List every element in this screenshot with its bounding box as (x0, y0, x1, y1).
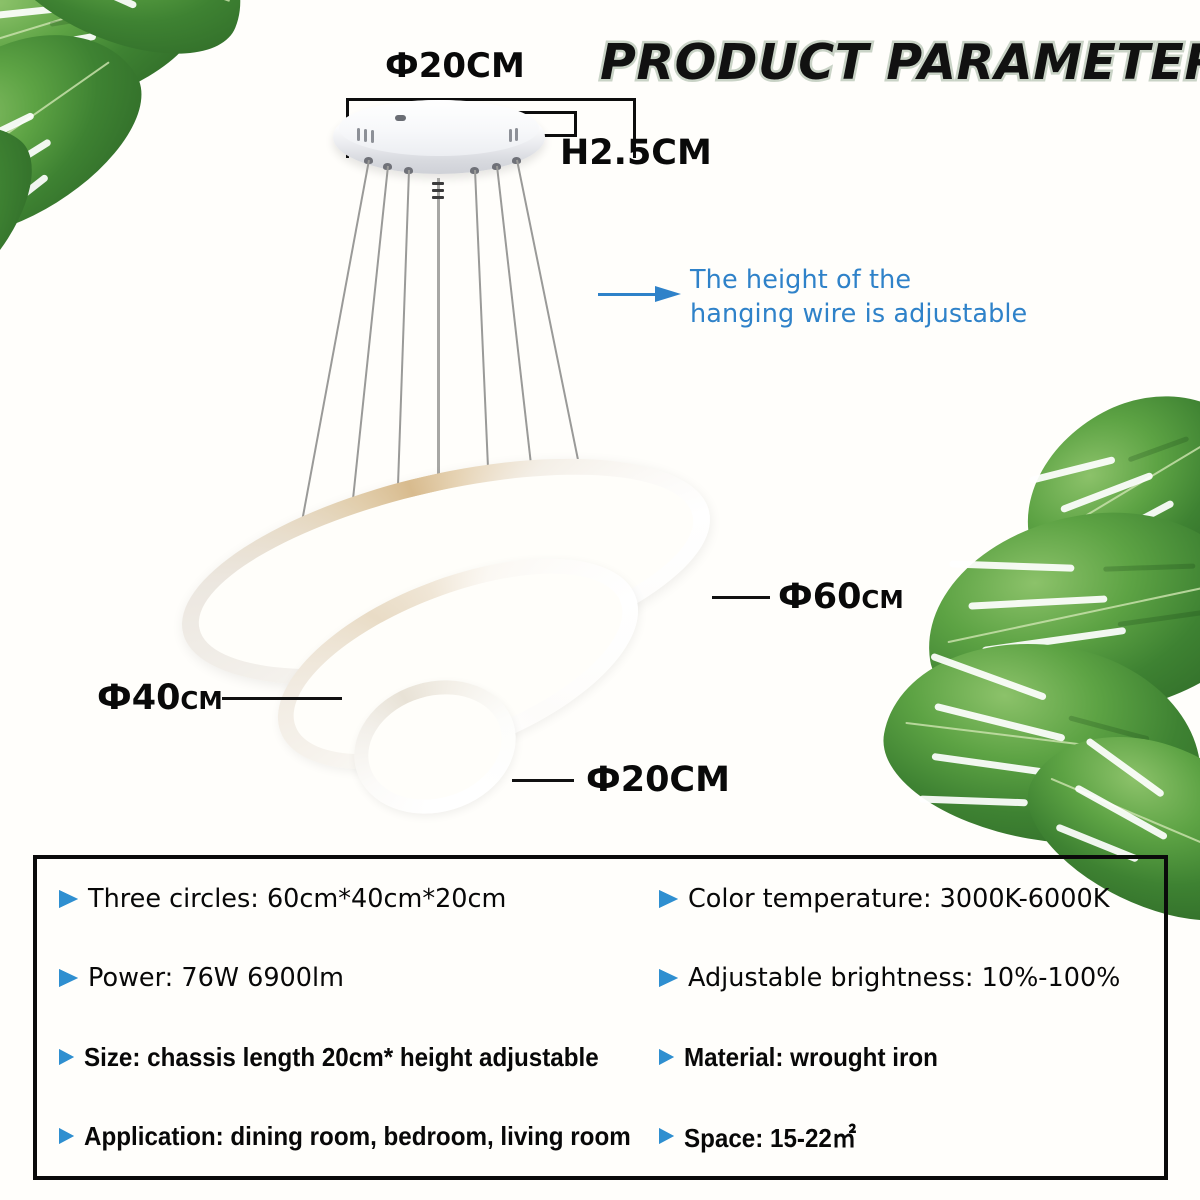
spec-item-color-temperature: Color temperature: 3000K-6000K (637, 884, 1164, 914)
ring-large-label-main: Ф60 (778, 577, 861, 617)
canopy-height-bracket-right-top (574, 111, 577, 134)
canopy-vent-slot (509, 129, 512, 142)
spec-label: Power: 76W 6900lm (88, 963, 344, 993)
ring-medium-label-main: Ф40 (97, 678, 180, 718)
spec-item-size: Size: chassis length 20cm* height adjust… (37, 1042, 637, 1073)
canopy-vent-slot (364, 129, 367, 142)
canopy-diameter-bracket-top (346, 98, 636, 101)
ring-large-label-unit: CM (861, 585, 903, 614)
ring-large-leader-line (712, 596, 770, 599)
canopy-vent-slot (371, 130, 374, 143)
canopy-vent-slot (357, 128, 360, 141)
note-arrow-head-icon (655, 286, 681, 302)
hanging-wire-note-line1: The height of the (690, 264, 1110, 298)
monstera-leaf-icon (0, 0, 171, 274)
spec-item-power: Power: 76W 6900lm (37, 963, 637, 993)
arrow-bullet-icon (659, 1049, 674, 1065)
ring-medium-leader-line (222, 697, 342, 700)
canopy-top-surface (339, 100, 539, 156)
leaf-decoration-top-left (0, 0, 260, 300)
spec-label: Adjustable brightness: 10%-100% (688, 963, 1120, 993)
spec-item-three-circles: Three circles: 60cm*40cm*20cm (37, 884, 637, 914)
ring-large-label: Ф60CM (778, 577, 904, 617)
leaf-decoration-right (905, 415, 1200, 885)
spec-label: Size: chassis length 20cm* height adjust… (84, 1042, 599, 1073)
monstera-leaf-icon (871, 619, 1200, 867)
specification-box: Three circles: 60cm*40cm*20cm Color temp… (33, 855, 1168, 1180)
arrow-bullet-icon (59, 1128, 74, 1144)
canopy-height-label: H2.5CM (560, 133, 712, 173)
arrow-bullet-icon (59, 1049, 74, 1065)
monstera-leaf-icon (0, 92, 61, 338)
arrow-bullet-icon (59, 969, 78, 987)
ring-small-label: Ф20CM (586, 760, 730, 800)
monstera-leaf-icon (0, 0, 216, 144)
spec-item-adjustable-brightness: Adjustable brightness: 10%-100% (637, 963, 1164, 993)
specification-grid: Three circles: 60cm*40cm*20cm Color temp… (37, 859, 1164, 1176)
hanging-wire-note-line2: hanging wire is adjustable (690, 298, 1110, 332)
canopy-vent-slot (515, 128, 518, 141)
product-infographic: PRODUCT PARAMETER Ф20CM H2.5CM The heigh… (0, 0, 1200, 1200)
cord-clip (432, 182, 444, 185)
arrow-bullet-icon (59, 890, 78, 908)
cord-clip (432, 196, 444, 199)
spec-label: Application: dining room, bedroom, livin… (84, 1121, 631, 1152)
arrow-bullet-icon (659, 890, 678, 908)
spec-label: Space: 15-22㎡ (684, 1118, 856, 1155)
canopy-diameter-label: Ф20CM (385, 46, 525, 86)
spec-label: Color temperature: 3000K-6000K (688, 884, 1109, 914)
arrow-bullet-icon (659, 1128, 674, 1144)
arrow-bullet-icon (659, 969, 678, 987)
canopy-screw-hole (395, 115, 406, 121)
monstera-leaf-icon (911, 490, 1200, 739)
ring-medium-label-unit: CM (180, 686, 222, 715)
spec-item-space: Space: 15-22㎡ (637, 1118, 1164, 1155)
monstera-leaf-icon (991, 357, 1200, 618)
spec-item-material: Material: wrought iron (637, 1042, 1164, 1073)
cord-clip (432, 189, 444, 192)
ring-small-leader-line (512, 779, 574, 782)
spec-label: Material: wrought iron (684, 1042, 938, 1073)
ring-medium-label: Ф40CM (97, 678, 223, 718)
spec-item-application: Application: dining room, bedroom, livin… (37, 1121, 637, 1152)
hanging-wire-note: The height of the hanging wire is adjust… (690, 264, 1110, 332)
spec-label: Three circles: 60cm*40cm*20cm (88, 884, 506, 914)
page-title: PRODUCT PARAMETER (600, 34, 1190, 91)
monstera-leaf-icon (0, 0, 269, 83)
